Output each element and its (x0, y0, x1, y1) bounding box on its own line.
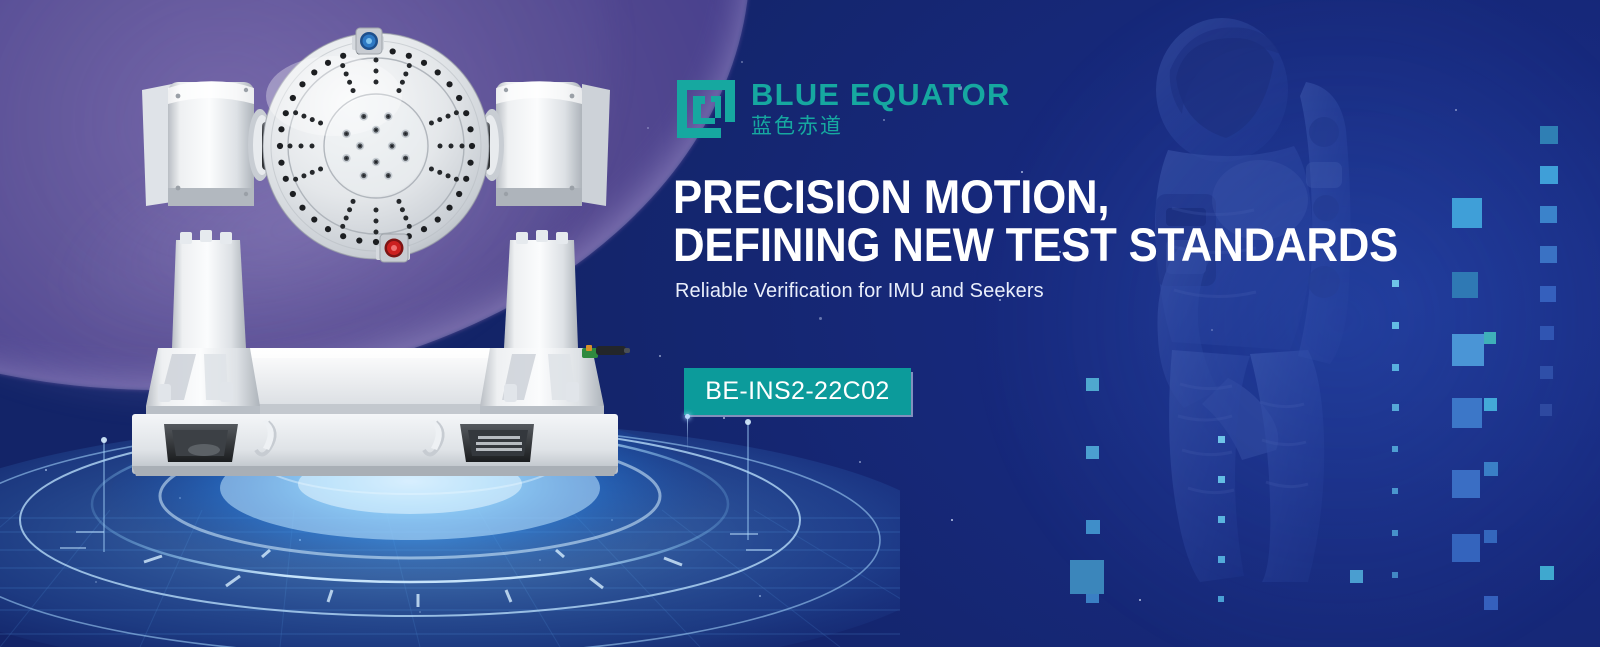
two-axis-rate-table (120, 18, 630, 478)
star (659, 355, 661, 357)
decor-square (1540, 366, 1553, 379)
brand-name-en: BLUE EQUATOR (751, 79, 1011, 110)
decor-square (1540, 246, 1557, 263)
decor-square (1540, 326, 1554, 340)
brand-text: BLUE EQUATOR 蓝色赤道 (751, 78, 1011, 137)
headline-line-1: PRECISION MOTION, (673, 170, 1109, 223)
decor-square (1540, 286, 1556, 302)
promotional-banner: BLUE EQUATOR 蓝色赤道 PRECISION MOTION, DEFI… (0, 0, 1600, 647)
decor-square (1540, 206, 1557, 223)
decor-square (1540, 566, 1554, 580)
star (647, 127, 649, 129)
model-number-label: BE-INS2-22C02 (705, 377, 889, 406)
banner-content: BLUE EQUATOR 蓝色赤道 PRECISION MOTION, DEFI… (673, 0, 1533, 647)
badge-connector-line (687, 415, 688, 451)
decor-square (1540, 166, 1558, 184)
model-number-badge[interactable]: BE-INS2-22C02 (684, 368, 911, 415)
headline: PRECISION MOTION, DEFINING NEW TEST STAN… (673, 173, 1445, 269)
brand-logo[interactable]: BLUE EQUATOR 蓝色赤道 (675, 78, 1011, 140)
blue-equator-logo-mark-icon (675, 78, 737, 140)
subheadline: Reliable Verification for IMU and Seeker… (675, 281, 1044, 301)
decor-square (1540, 126, 1558, 144)
decor-square (1540, 404, 1552, 416)
brand-name-cn: 蓝色赤道 (751, 116, 1011, 137)
headline-line-2: DEFINING NEW TEST STANDARDS (673, 221, 1445, 269)
